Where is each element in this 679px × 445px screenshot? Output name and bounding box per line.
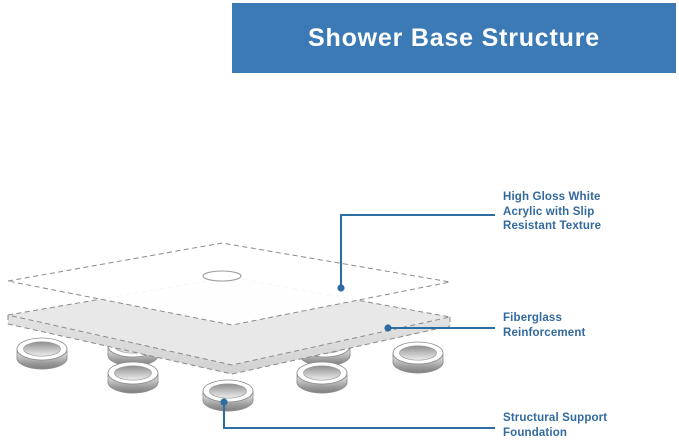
callout-label-acrylic: High Gloss White Acrylic with Slip Resis… <box>503 190 663 234</box>
callout-label-fiberglass: Fiberglass Reinforcement <box>503 311 663 340</box>
support-ring <box>17 338 67 369</box>
support-ring <box>108 362 158 393</box>
support-ring <box>297 362 347 393</box>
support-ring <box>203 380 253 411</box>
callout-label-support: Structural Support Foundation <box>503 411 673 440</box>
leader-support <box>220 398 495 428</box>
diagram-canvas: Shower Base Structure <box>0 0 679 445</box>
support-ring <box>393 342 443 373</box>
drain-ellipse <box>203 271 241 281</box>
